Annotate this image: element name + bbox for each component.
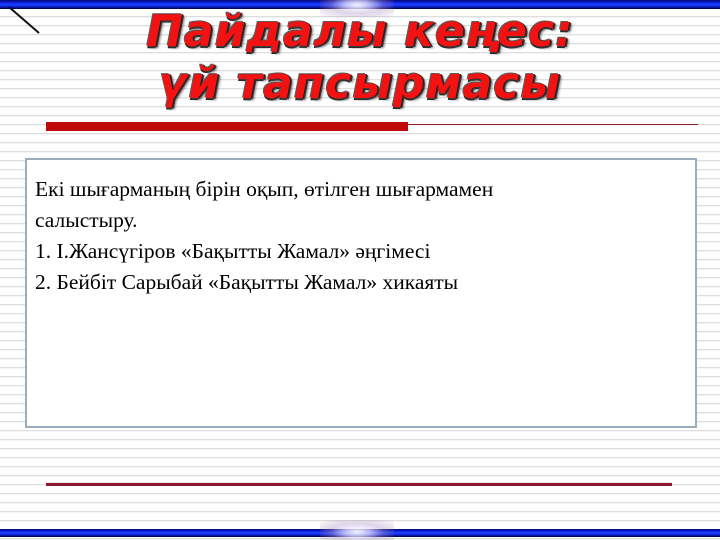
bottom-blue-bar [0, 529, 720, 537]
content-box: Екі шығарманың бірін оқып, өтілген шығар… [25, 158, 697, 428]
footer-rule [46, 483, 672, 486]
slide-canvas: Пайдалы кеңес: үй тапсырмасы Екі шығарма… [0, 0, 720, 540]
title-line-1: Пайдалы кеңес: [0, 4, 720, 54]
slide-title: Пайдалы кеңес: үй тапсырмасы [0, 4, 720, 106]
title-line-2: үй тапсырмасы [0, 54, 720, 106]
homework-text: Екі шығарманың бірін оқып, өтілген шығар… [35, 174, 685, 298]
title-underline-thick [46, 122, 408, 131]
